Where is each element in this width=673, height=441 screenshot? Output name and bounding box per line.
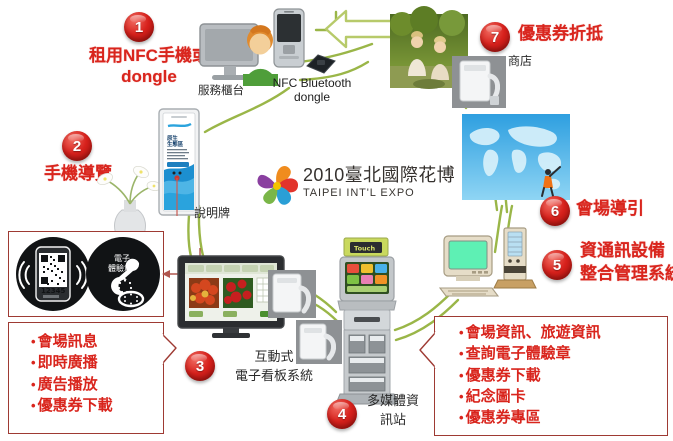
service-counter-caption: 服務櫃台 bbox=[186, 84, 256, 98]
step-2-number: 2 bbox=[73, 138, 81, 155]
step-3-number: 3 bbox=[196, 358, 204, 375]
expo-logo-title: 2010臺北國際花博 bbox=[303, 166, 455, 185]
shop-caption: 商店 bbox=[508, 54, 552, 69]
signboard-caption: 說明牌 bbox=[186, 206, 238, 221]
icon-panel: 12345 電子 體驗章 bbox=[8, 231, 164, 317]
callout-left: 會場訊息 即時廣播 廣告播放 優惠券下載 bbox=[8, 322, 164, 434]
step-5-badge: 5 bbox=[542, 250, 572, 280]
step-3-badge: 3 bbox=[185, 351, 215, 381]
step-4-badge: 4 bbox=[327, 399, 357, 429]
svg-text:Touch: Touch bbox=[354, 245, 376, 253]
kiosk-caption: 多媒體資 訊站 bbox=[360, 392, 426, 430]
callout-left-item-3: 優惠券下載 bbox=[31, 395, 163, 416]
callout-right-item-1: 查詢電子體驗章 bbox=[459, 343, 667, 364]
callout-left-item-0: 會場訊息 bbox=[31, 331, 163, 352]
step-4-number: 4 bbox=[338, 406, 346, 423]
digital-signage-caption-line2: 電子看板系統 bbox=[216, 367, 332, 386]
callout-right-item-3: 紀念圖卡 bbox=[459, 386, 667, 407]
kiosk-caption-line1: 多媒體資 bbox=[360, 392, 426, 411]
callout-right-list: 會場資訊、旅遊資訊 查詢電子體驗章 優惠券下載 紀念圖卡 優惠券專區 bbox=[459, 322, 667, 428]
svg-text:原生: 原生 bbox=[167, 134, 178, 142]
step-7-number: 7 bbox=[491, 29, 499, 46]
venue-guide-map bbox=[462, 114, 570, 200]
callout-right-item-2: 優惠券下載 bbox=[459, 365, 667, 386]
bluetooth-dongle-illustration bbox=[304, 52, 338, 76]
callout-left-item-2: 廣告播放 bbox=[31, 374, 163, 395]
return-flow-arrow bbox=[322, 6, 394, 52]
expo-logo-subtitle: TAIPEI INT'L EXPO bbox=[303, 187, 455, 199]
callout-left-list: 會場訊息 即時廣播 廣告播放 優惠券下載 bbox=[31, 331, 163, 416]
expo-logo-text: 2010臺北國際花博 TAIPEI INT'L EXPO bbox=[303, 166, 455, 199]
nfc-dongle-caption: NFC Bluetooth dongle bbox=[264, 76, 360, 105]
step-1-number: 1 bbox=[135, 19, 143, 36]
step-5-label: 資通訊設備 整合管理系統 bbox=[580, 240, 673, 286]
step-5-label-line2: 整合管理系統 bbox=[580, 263, 673, 286]
step-6-label: 會場導引 bbox=[576, 199, 644, 220]
callout-left-tail bbox=[162, 330, 186, 370]
diagram-canvas: 1 租用NFC手機或 dongle 服務櫃台 NFC Bluetooth don… bbox=[0, 0, 673, 441]
step-6-badge: 6 bbox=[540, 196, 570, 226]
multimedia-kiosk-illustration: Touch bbox=[332, 238, 404, 408]
nfc-dongle-caption-line1: NFC Bluetooth bbox=[264, 76, 360, 90]
expo-logo-mark bbox=[250, 160, 304, 212]
step-5-number: 5 bbox=[553, 257, 561, 274]
svg-text:生態區: 生態區 bbox=[167, 140, 184, 148]
step-6-number: 6 bbox=[551, 203, 559, 220]
step-7-badge: 7 bbox=[480, 22, 510, 52]
qr-phone-digits: 12345 bbox=[41, 287, 65, 295]
callout-right-item-0: 會場資訊、旅遊資訊 bbox=[459, 322, 667, 343]
step-1-badge: 1 bbox=[124, 12, 154, 42]
signage-nfc-reader bbox=[268, 270, 316, 318]
nfc-dongle-caption-line2: dongle bbox=[264, 90, 360, 104]
server-pc-illustration bbox=[440, 228, 544, 308]
signboard-illustration: 原生 生態區 bbox=[158, 108, 200, 218]
shop-nfc-reader bbox=[452, 56, 506, 108]
kiosk-nfc-reader bbox=[296, 320, 342, 364]
nfc-phone-illustration bbox=[272, 8, 308, 70]
step-2-badge: 2 bbox=[62, 131, 92, 161]
step-5-label-line1: 資通訊設備 bbox=[580, 240, 673, 263]
callout-right-tail bbox=[414, 330, 438, 374]
step-7-label: 優惠券折抵 bbox=[518, 24, 603, 45]
kiosk-caption-line2: 訊站 bbox=[360, 411, 426, 430]
icon-panel-graphics: 12345 電子 體驗章 bbox=[13, 235, 161, 313]
callout-right-item-4: 優惠券專區 bbox=[459, 407, 667, 428]
callout-right: 會場資訊、旅遊資訊 查詢電子體驗章 優惠券下載 紀念圖卡 優惠券專區 bbox=[434, 316, 668, 436]
callout-left-item-1: 即時廣播 bbox=[31, 352, 163, 373]
